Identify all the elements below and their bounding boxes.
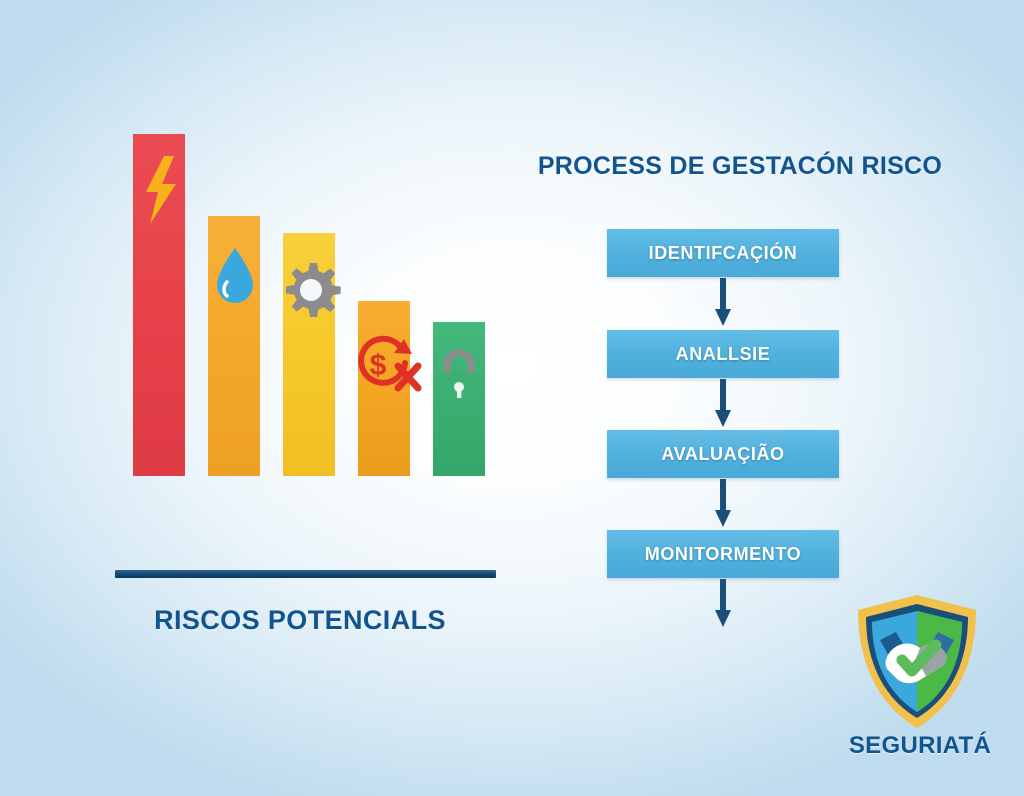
water-drop-icon (212, 246, 258, 308)
flow-step-label: AVALUAÇIÃO (661, 444, 784, 465)
svg-text:$: $ (370, 349, 387, 382)
gear-icon (279, 259, 341, 321)
chart-caption: RISCOS POTENCIALS (0, 605, 600, 636)
risk-bar-chart: $ RISCOS POTENCIALS (0, 0, 520, 700)
flow-arrow-3 (715, 479, 731, 529)
chart-baseline (115, 570, 496, 578)
lightning-bolt-icon (136, 156, 182, 224)
shield-handshake-icon (850, 592, 984, 732)
flow-step-identificacion[interactable]: IDENTIFCAÇIÓN (607, 229, 839, 277)
flow-title: PROCESS DE GESTACÓN RISCO (520, 152, 960, 181)
brand-name: SEGURIATÁ (830, 732, 1010, 760)
flow-arrow-4 (715, 579, 731, 629)
flow-step-monitoramento[interactable]: MONITORMENTO (607, 530, 839, 578)
flow-step-label: IDENTIFCAÇIÓN (649, 243, 798, 264)
flow-step-label: ANALLSIE (676, 344, 771, 365)
padlock-icon (431, 345, 487, 415)
brand-logo: SEGURIATÁ (836, 592, 1008, 782)
flow-step-label: MONITORMENTO (645, 544, 802, 565)
flow-arrow-2 (715, 379, 731, 429)
money-loss-icon: $ (348, 330, 424, 398)
flow-arrow-1 (715, 278, 731, 328)
flow-step-analisis[interactable]: ANALLSIE (607, 330, 839, 378)
infographic-canvas: $ RISCOS POTENCIALS PROCESS DE GESTACÓN … (0, 0, 1024, 796)
flow-step-avaliacao[interactable]: AVALUAÇIÃO (607, 430, 839, 478)
